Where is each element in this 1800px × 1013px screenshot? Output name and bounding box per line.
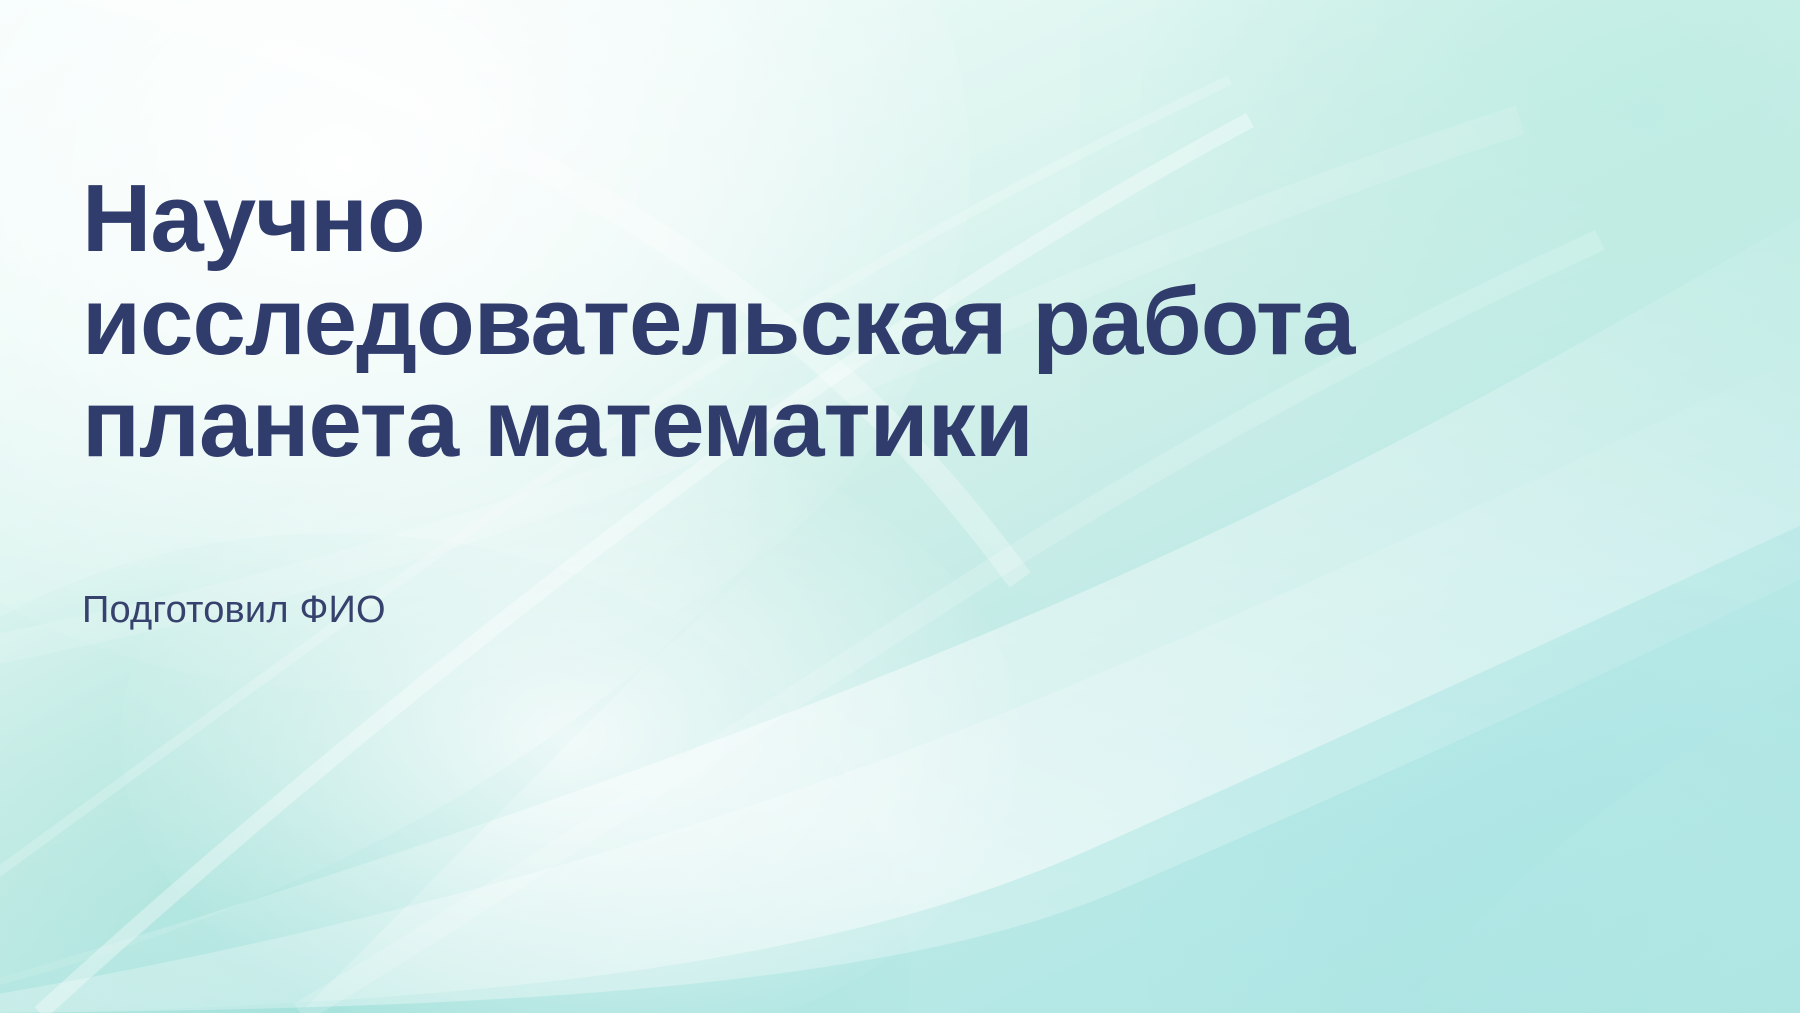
slide-subtitle-author: Подготовил ФИО [82,588,1402,634]
slide-content: Научно исследовательская работа планета … [82,168,1402,634]
page-title: Научно исследовательская работа планета … [82,168,1372,476]
background-glow-bottom-right [1140,573,1800,1013]
title-slide: Научно исследовательская работа планета … [0,0,1800,1013]
